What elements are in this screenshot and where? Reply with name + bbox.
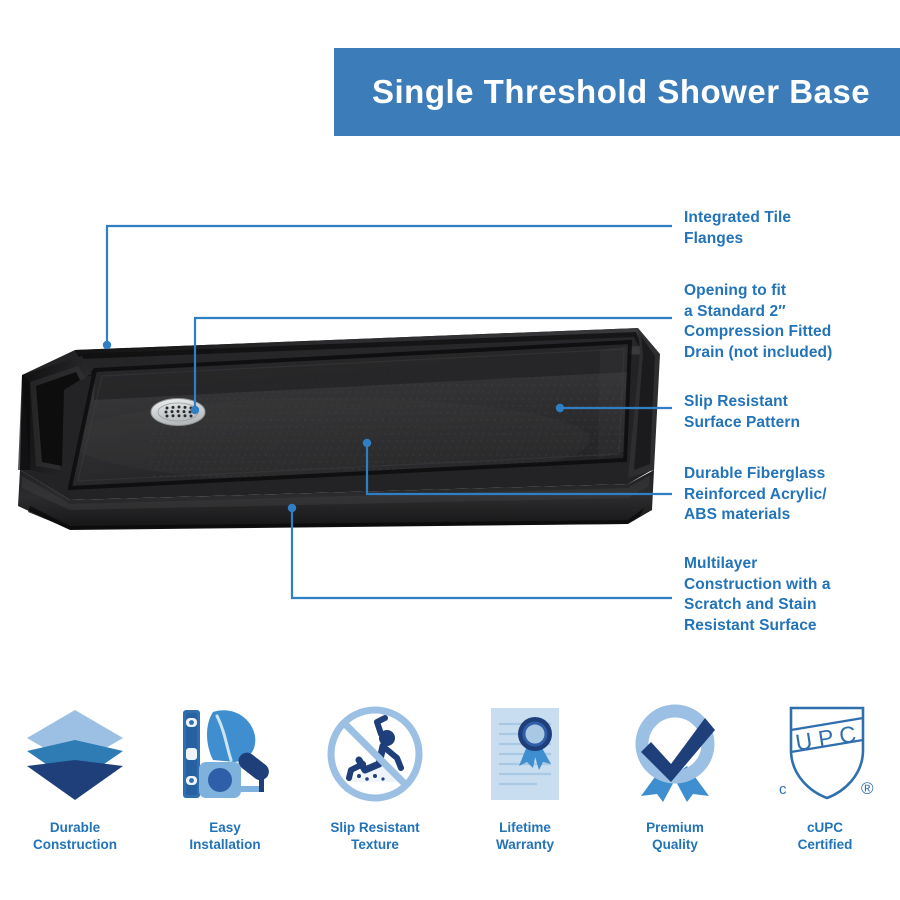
- stacked-layers-icon: [19, 700, 131, 808]
- feature-label: Easy Installation: [189, 820, 260, 854]
- feature-cupc-certified: U P C c ® cUPC Certified: [750, 700, 900, 875]
- feature-label: cUPC Certified: [798, 820, 853, 854]
- page-title: Single Threshold Shower Base: [372, 73, 870, 111]
- feature-label: Slip Resistant Texture: [330, 820, 419, 854]
- feature-label: Durable Construction: [33, 820, 117, 854]
- no-slip-prohibition-icon: [319, 700, 431, 808]
- callout-durable-materials: Durable Fiberglass Reinforced Acrylic/ A…: [684, 464, 827, 526]
- feature-row: Durable Construction: [0, 700, 900, 875]
- feature-easy-installation: Easy Installation: [150, 700, 300, 875]
- check-rosette-icon: [619, 700, 731, 808]
- feature-lifetime-warranty: Lifetime Warranty: [450, 700, 600, 875]
- feature-premium-quality: Premium Quality: [600, 700, 750, 875]
- cupc-letters: U P C: [794, 720, 858, 755]
- callout-integrated-tile-flanges: Integrated Tile Flanges: [684, 208, 791, 249]
- product-image-shower-base: [0, 320, 680, 530]
- feature-durable-construction: Durable Construction: [0, 700, 150, 875]
- feature-label: Premium Quality: [646, 820, 704, 854]
- callout-slip-resistant-surface-pattern: Slip Resistant Surface Pattern: [684, 392, 800, 433]
- feature-slip-resistant-texture: Slip Resistant Texture: [300, 700, 450, 875]
- registered-mark: ®: [861, 779, 874, 798]
- cupc-shield-icon: U P C c ®: [769, 700, 881, 808]
- callout-multilayer-construction: Multilayer Construction with a Scratch a…: [684, 554, 831, 636]
- feature-label: Lifetime Warranty: [496, 820, 554, 854]
- title-banner: Single Threshold Shower Base: [334, 48, 900, 136]
- drain-plate: [151, 399, 205, 426]
- callout-drain-opening: Opening to fit a Standard 2″ Compression…: [684, 281, 832, 363]
- certificate-seal-icon: [469, 700, 581, 808]
- cupc-prefix: c: [779, 781, 787, 798]
- level-trowel-tape-icon: [169, 700, 281, 808]
